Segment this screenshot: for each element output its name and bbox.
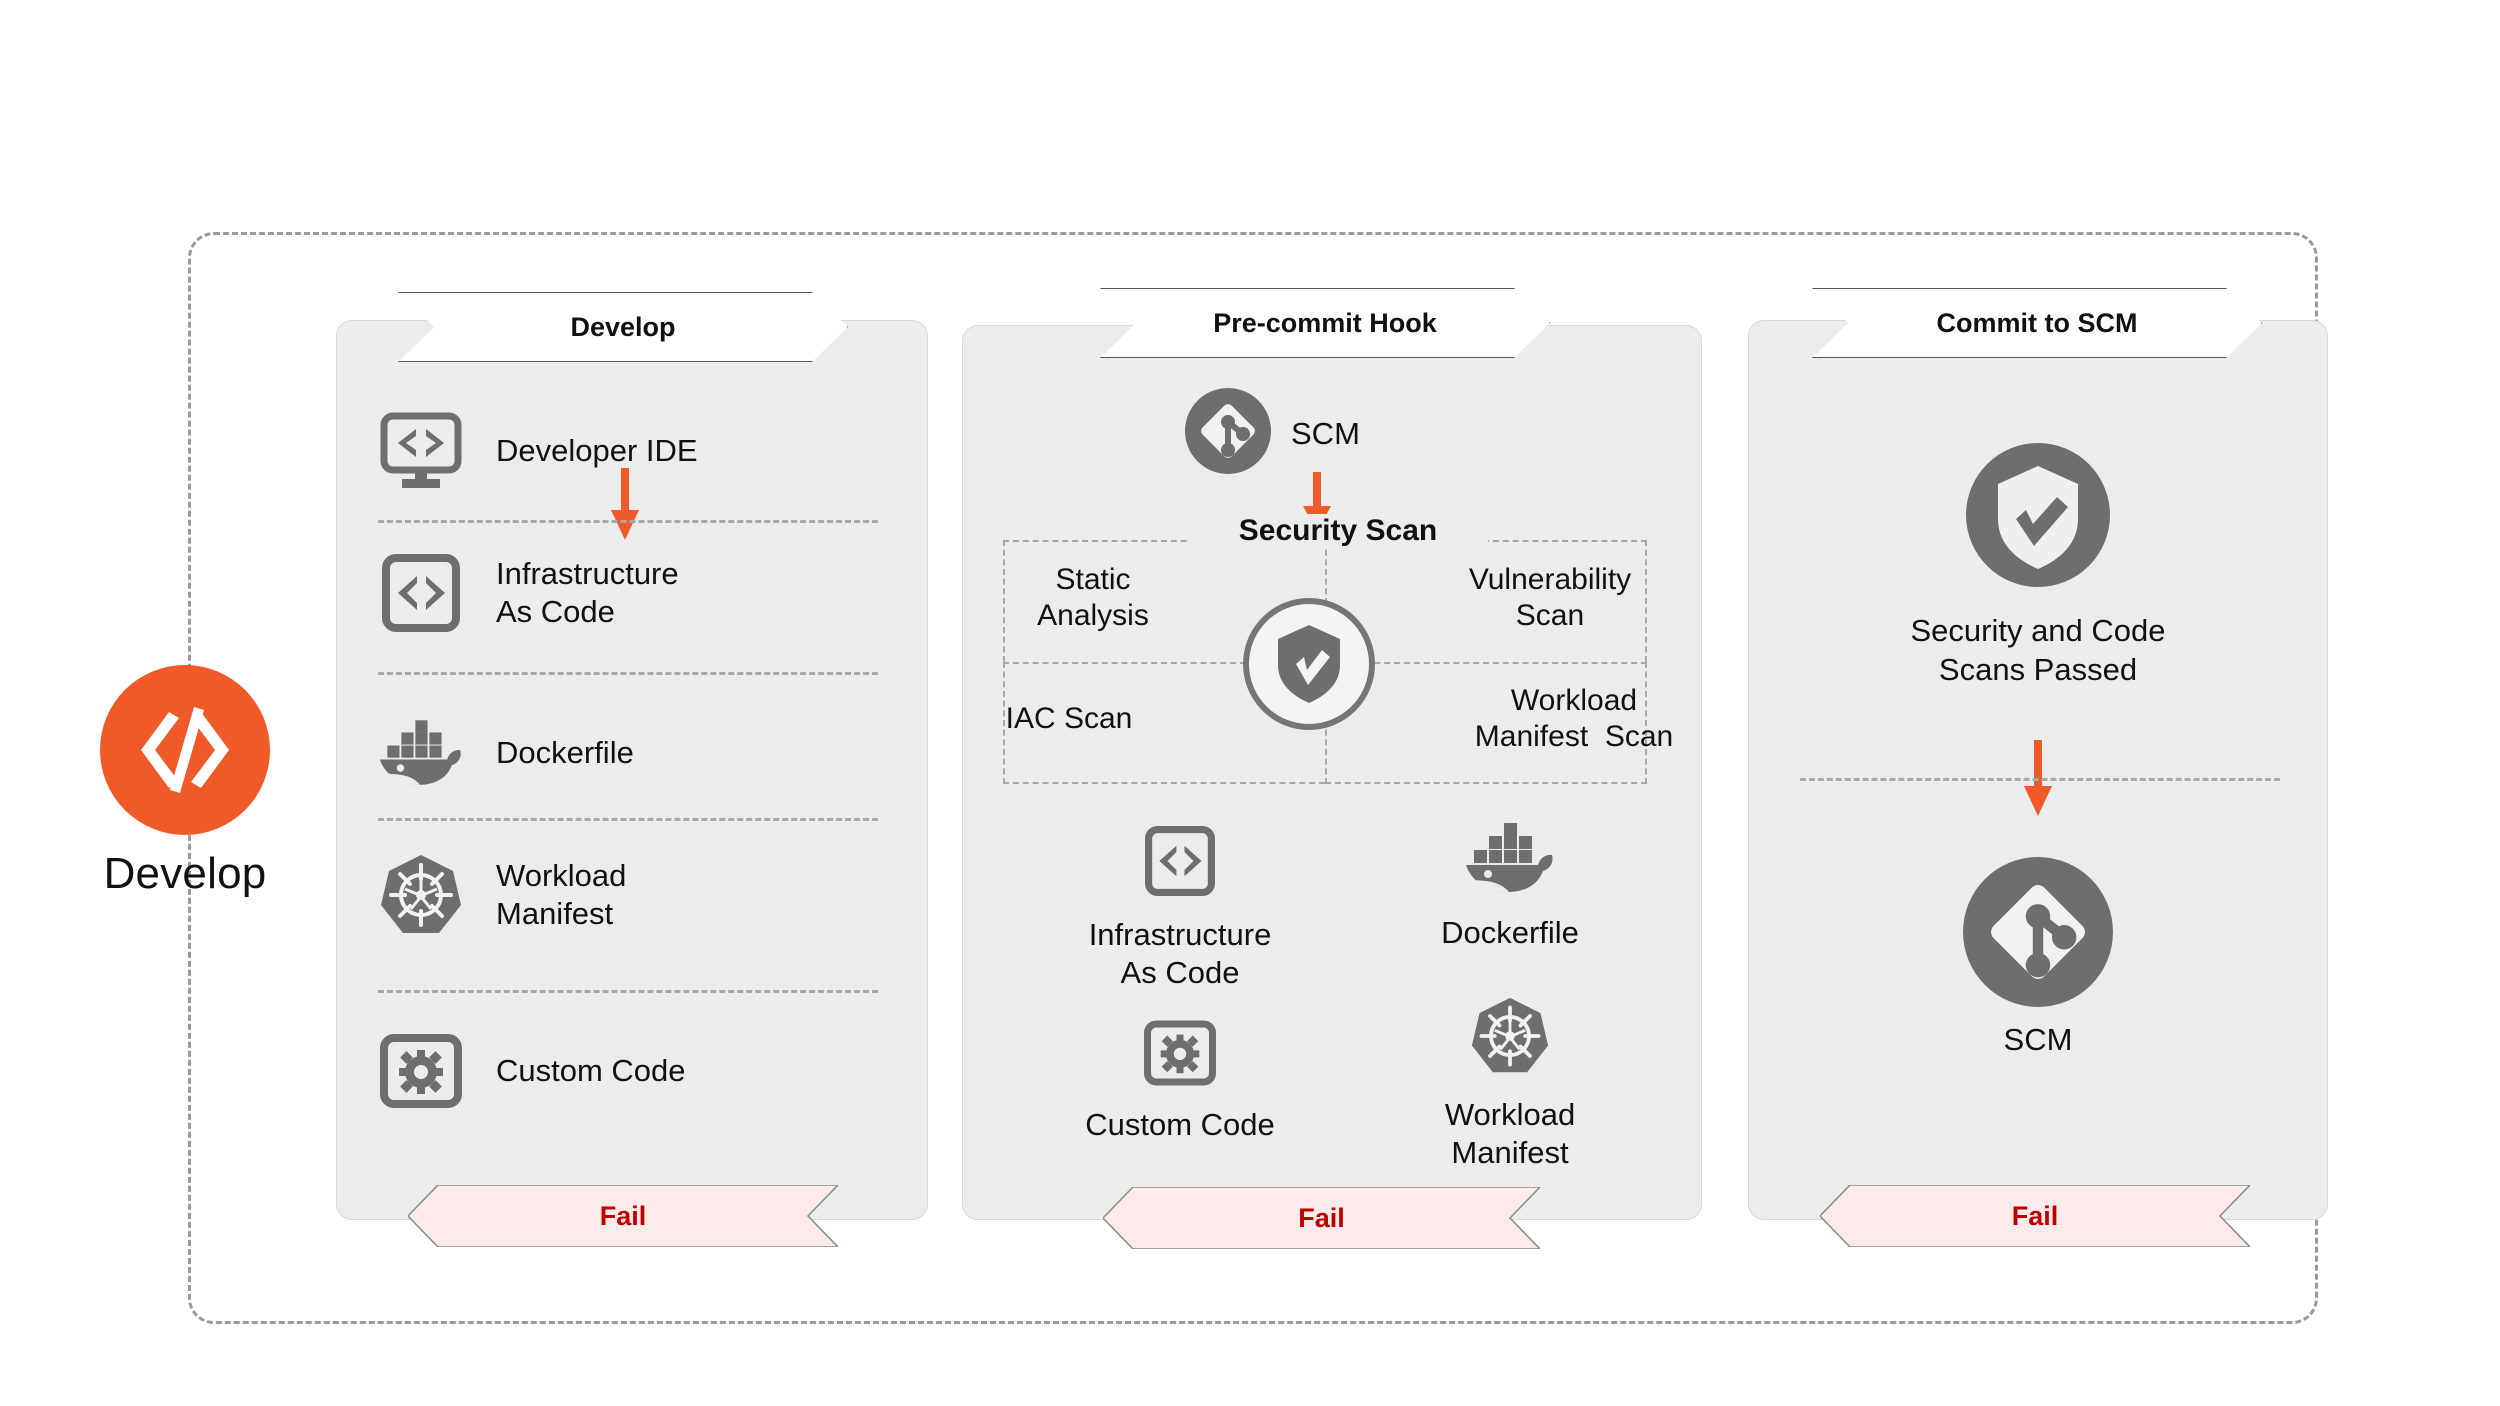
list-item-label: Developer IDE [496, 432, 698, 470]
tool-label: Dockerfile [1380, 914, 1640, 952]
tool-dockerfile[interactable]: Dockerfile [1380, 808, 1640, 952]
fail-ribbon-precommit: Fail [1103, 1187, 1540, 1249]
tool-label: InfrastructureAs Code [1050, 916, 1310, 992]
tool-label: Custom Code [1050, 1106, 1310, 1144]
git-scm-icon [1748, 857, 2328, 1007]
header-ribbon-precommit: Pre-commit Hook [1100, 288, 1550, 358]
flow-arrow-down [2021, 740, 2055, 823]
row-divider [378, 672, 878, 675]
scm-node-bottom[interactable]: SCM [1748, 857, 2328, 1060]
develop-badge-label: Develop [100, 849, 270, 899]
gear-window-icon [378, 1028, 464, 1114]
code-square-icon [1050, 810, 1310, 896]
fail-ribbon-develop: Fail [408, 1185, 838, 1247]
header-ribbon-develop: Develop [398, 292, 848, 362]
list-item[interactable]: InfrastructureAs Code [378, 550, 679, 636]
scm-label: SCM [1748, 1021, 2328, 1060]
tool-infrastructure-as-code[interactable]: InfrastructureAs Code [1050, 810, 1310, 992]
header-ribbon-commit: Commit to SCM [1812, 288, 2262, 358]
gear-window-icon [1050, 1000, 1310, 1086]
docker-whale-icon [378, 710, 464, 796]
code-brackets-icon [100, 665, 270, 835]
list-item-label: WorkloadManifest [496, 857, 626, 933]
scans-passed-node[interactable]: Security and CodeScans Passed [1748, 440, 2328, 690]
code-square-icon [378, 550, 464, 636]
ribbon-label: Develop [570, 312, 675, 343]
tool-workload-manifest[interactable]: WorkloadManifest [1380, 990, 1640, 1172]
list-item-label: Dockerfile [496, 734, 634, 772]
kubernetes-icon [378, 852, 464, 938]
row-divider [1800, 778, 2280, 781]
list-item[interactable]: WorkloadManifest [378, 852, 626, 938]
scm-label: SCM [1291, 416, 1360, 452]
list-item[interactable]: Dockerfile [378, 710, 634, 796]
fail-label: Fail [600, 1201, 647, 1232]
fail-label: Fail [2012, 1201, 2059, 1232]
shield-check-circle-icon [1748, 440, 2328, 590]
row-divider [378, 520, 878, 523]
fail-label: Fail [1298, 1203, 1345, 1234]
tool-custom-code[interactable]: Custom Code [1050, 1000, 1310, 1144]
develop-badge: Develop [100, 665, 270, 899]
git-scm-icon [1185, 388, 1271, 479]
row-divider [378, 990, 878, 993]
scm-node-top[interactable]: SCM [1185, 388, 1360, 479]
diagram-stage: Develop Develop Developer IDE [0, 0, 2500, 1406]
scans-passed-label: Security and CodeScans Passed [1748, 612, 2328, 690]
flow-arrow-down [608, 468, 642, 547]
ribbon-label: Pre-commit Hook [1213, 308, 1437, 339]
list-item[interactable]: Developer IDE [378, 408, 698, 494]
monitor-code-icon [378, 408, 464, 494]
list-item[interactable]: Custom Code [378, 1028, 686, 1114]
ribbon-label: Commit to SCM [1937, 308, 2138, 339]
docker-whale-icon [1380, 808, 1640, 894]
quadrant-workload-manifest-scan[interactable]: WorkloadManifest Scan [1325, 662, 1647, 784]
security-scan-title: Security Scan [1188, 514, 1488, 548]
list-item-label: Custom Code [496, 1052, 686, 1090]
tool-label: WorkloadManifest [1380, 1096, 1640, 1172]
shield-check-icon [1243, 598, 1375, 730]
kubernetes-icon [1380, 990, 1640, 1076]
quadrant-vulnerability-scan[interactable]: VulnerabilityScan [1325, 540, 1647, 662]
list-item-label: InfrastructureAs Code [496, 555, 679, 631]
row-divider [378, 818, 878, 821]
fail-ribbon-commit: Fail [1820, 1185, 2250, 1247]
